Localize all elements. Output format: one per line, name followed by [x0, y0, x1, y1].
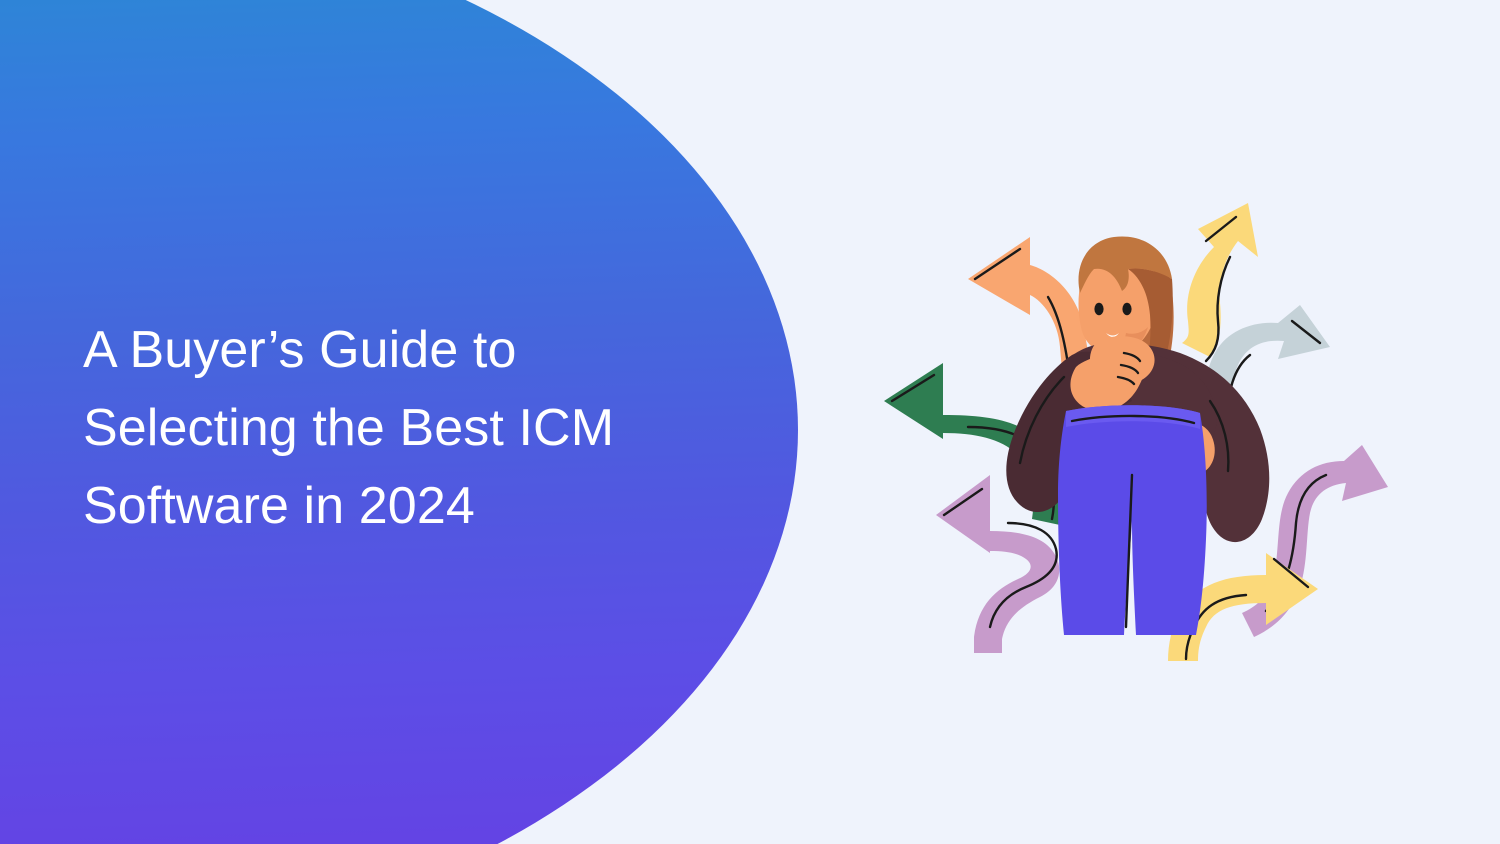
hero-banner: A Buyer’s Guide to Selecting the Best IC…: [0, 0, 1500, 844]
pants: [1058, 405, 1207, 635]
hero-illustration: .ln { fill:none; stroke:#1A1A1A; stroke-…: [880, 175, 1390, 675]
page-title: A Buyer’s Guide to Selecting the Best IC…: [83, 311, 723, 545]
woman-thinking-with-arrows-illustration: .ln { fill:none; stroke:#1A1A1A; stroke-…: [880, 175, 1390, 675]
